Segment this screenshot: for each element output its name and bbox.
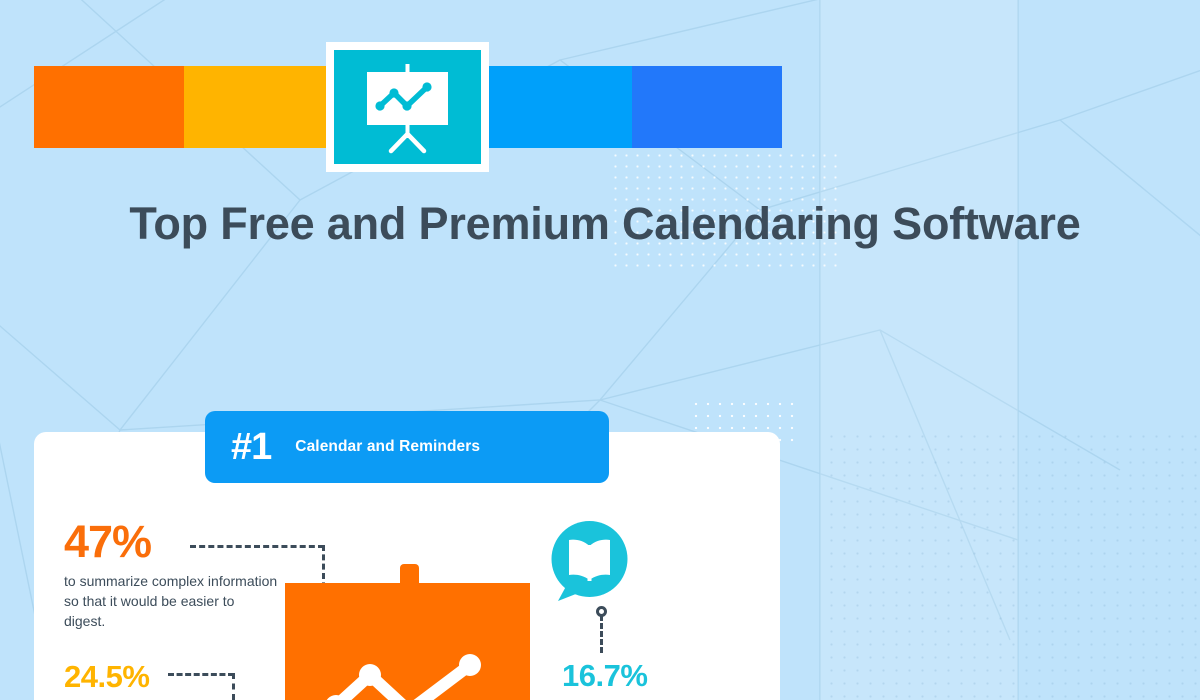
page-title: Top Free and Premium Calendaring Softwar… [60, 196, 1150, 252]
connector-line-245-horizontal [168, 673, 234, 676]
infographic-page: Top Free and Premium Calendaring Softwar… [0, 0, 1200, 700]
connector-line-47-horizontal [190, 545, 324, 548]
stat-description-47: to summarize complex information so that… [64, 571, 279, 631]
rank-label: Calendar and Reminders [295, 438, 480, 456]
rank-ribbon[interactable]: #1 Calendar and Reminders [205, 411, 609, 483]
connector-line-167-vertical [600, 615, 603, 653]
open-book-icon [548, 521, 631, 607]
line-chart-icon [285, 583, 530, 700]
line-chart-panel [285, 583, 530, 700]
logo-tile [334, 50, 481, 164]
banner-segment-indigo [632, 66, 782, 148]
stat-value-47: 47% [64, 518, 151, 566]
book-speech-bubble [548, 521, 631, 607]
stat-value-167: 16.7% [562, 659, 647, 693]
presentation-chart-icon [334, 50, 481, 164]
stat-value-245: 24.5% [64, 660, 149, 694]
banner-segment-blue [484, 66, 632, 148]
banner-segment-orange [34, 66, 184, 148]
connector-line-245-vertical [232, 673, 235, 700]
logo-frame [326, 42, 489, 172]
background-dot-grid-right [825, 430, 1200, 700]
rank-number: #1 [231, 428, 271, 466]
